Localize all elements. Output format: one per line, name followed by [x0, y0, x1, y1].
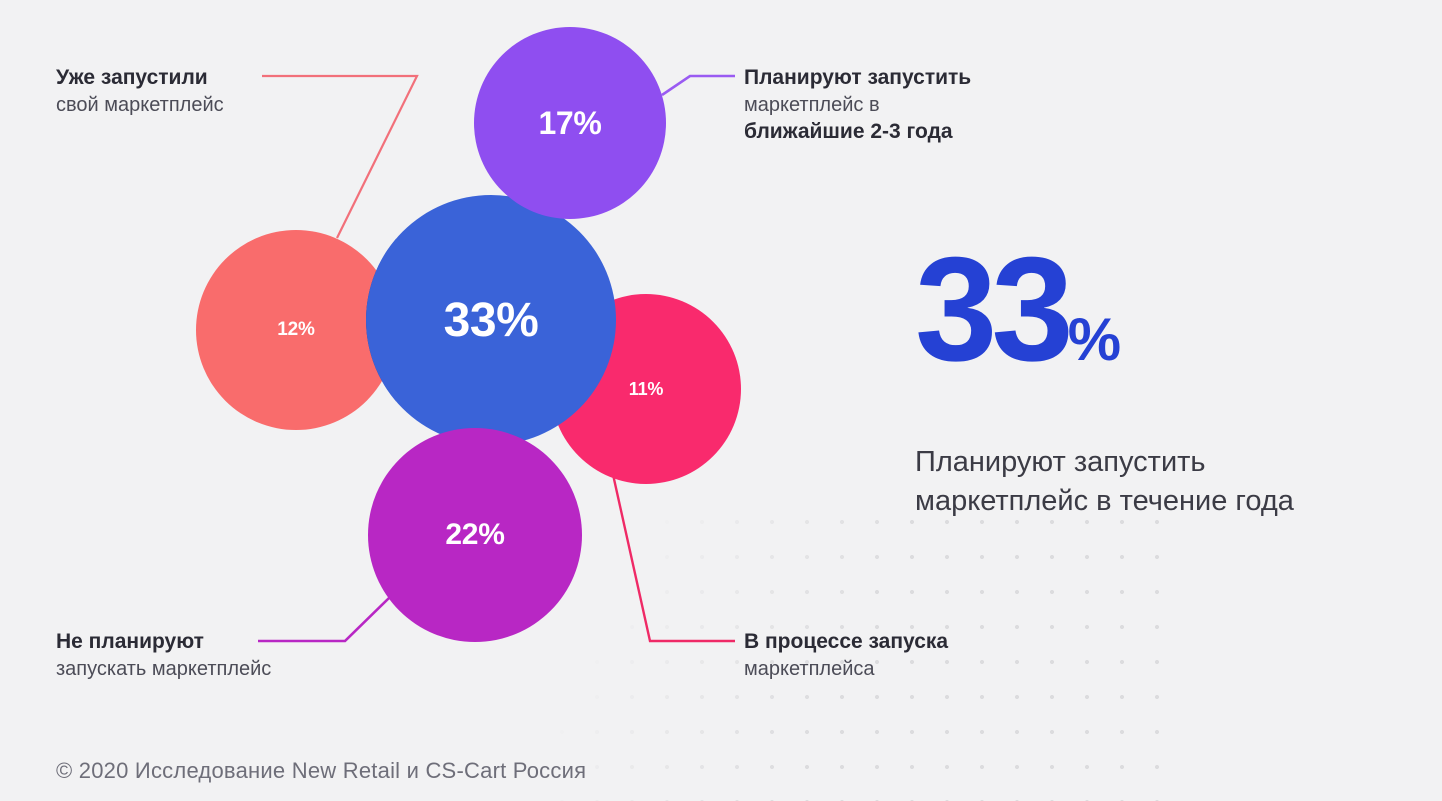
highlight-percent-sign: % — [1068, 305, 1120, 374]
infographic-canvas: 12% 11% 33% 17% 22% Уже запустили свой м… — [0, 0, 1442, 801]
callout-process-title: В процессе запуска — [744, 628, 948, 656]
callout-noplan-sub: запускать маркетплейс — [56, 656, 271, 682]
bubble-value-17: 17% — [538, 105, 601, 142]
callout-noplan-title: Не планируют — [56, 628, 271, 656]
footer-copyright: © 2020 Исследование New Retail и CS-Cart… — [56, 758, 586, 784]
bubble-value-12: 12% — [277, 319, 314, 341]
bubble-value-33: 33% — [444, 293, 539, 348]
callout-plan23-emphasis: ближайшие 2-3 года — [744, 118, 971, 146]
callout-plan23-title: Планируют запустить — [744, 64, 971, 92]
callout-already-launched: Уже запустили свой маркетплейс — [56, 64, 224, 118]
callout-not-planning: Не планируют запускать маркетплейс — [56, 628, 271, 682]
bubble-plan-this-year[interactable]: 33% — [366, 195, 616, 445]
bubble-value-22: 22% — [445, 518, 504, 552]
highlight-stat: 33% — [915, 236, 1120, 384]
callout-plan23-sub: маркетплейс в — [744, 92, 971, 118]
callout-launched-title: Уже запустили — [56, 64, 224, 92]
highlight-caption-line2: маркетплейс в течение года — [915, 485, 1294, 517]
callout-plan-2-3-years: Планируют запустить маркетплейс в ближай… — [744, 64, 971, 146]
highlight-caption-line1: Планируют запустить — [915, 446, 1206, 478]
bubble-not-planning[interactable]: 22% — [368, 428, 582, 642]
callout-launched-sub: свой маркетплейс — [56, 92, 224, 118]
highlight-caption: Планируют запустить маркетплейс в течени… — [915, 443, 1425, 521]
bubble-value-11: 11% — [629, 379, 664, 400]
callout-in-process: В процессе запуска маркетплейса — [744, 628, 948, 682]
highlight-number: 33 — [915, 236, 1068, 384]
callout-process-sub: маркетплейса — [744, 656, 948, 682]
bubble-plan-2-3-years[interactable]: 17% — [474, 27, 666, 219]
